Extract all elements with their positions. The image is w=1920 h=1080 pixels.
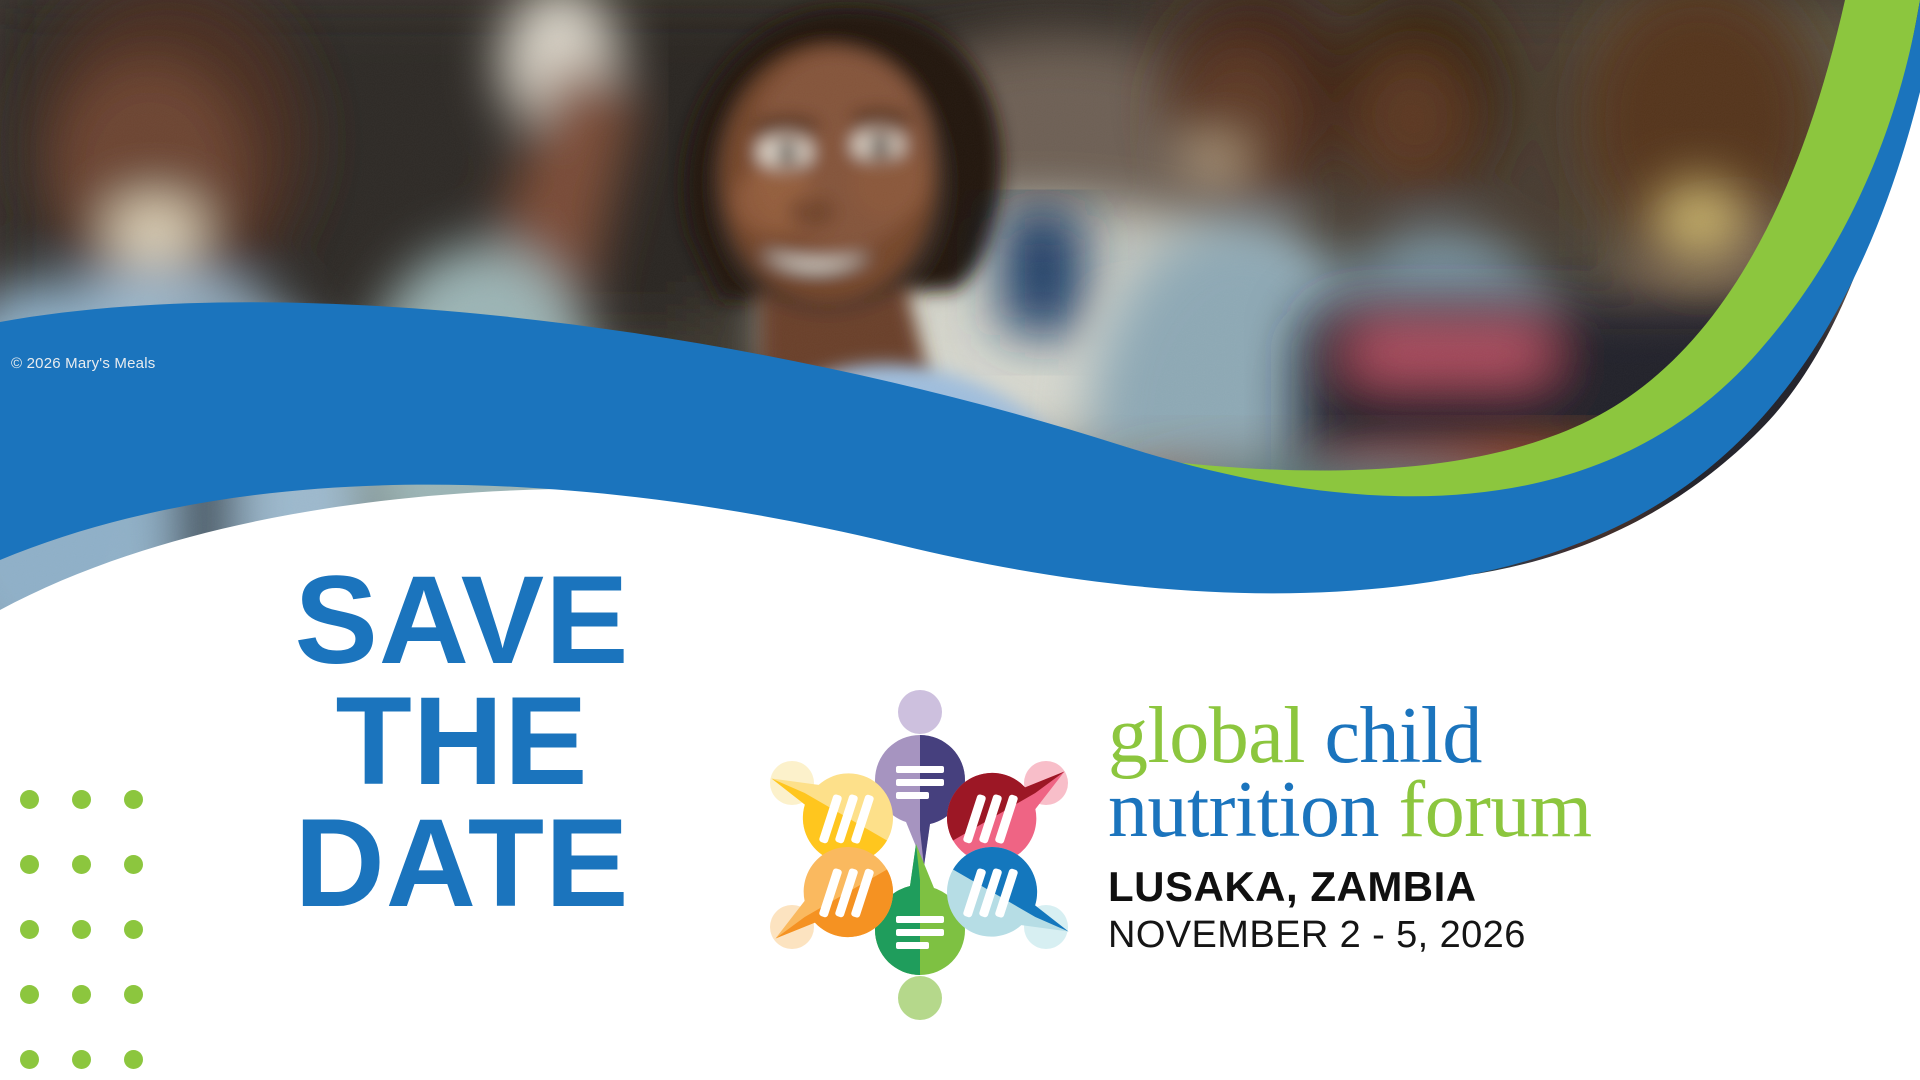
dot (72, 1050, 91, 1069)
dot (20, 790, 39, 809)
dot (124, 985, 143, 1004)
dot (124, 920, 143, 939)
dot (20, 985, 39, 1004)
gcnf-wordmark-block: global child nutrition forum LUSAKA, ZAM… (1108, 700, 1908, 957)
halo-dot-palegreen (898, 976, 942, 1020)
dot-grid-row (0, 1050, 176, 1080)
gcnf-logo-lockup: global child nutrition forum LUSAKA, ZAM… (760, 690, 1920, 1030)
headline: SAVE THE DATE (252, 560, 672, 924)
wordmark-forum: forum (1399, 766, 1592, 854)
headline-line-3: DATE (252, 803, 672, 924)
dot (20, 920, 39, 939)
dot-grid-row (0, 790, 176, 855)
dot-grid-row (0, 855, 176, 920)
halo-dot-lilac (898, 690, 942, 734)
wordmark-nutrition: nutrition (1108, 766, 1379, 854)
dot (72, 855, 91, 874)
gcnf-wordmark-line-1: global child (1108, 700, 1908, 774)
save-the-date-banner: © 2026 Mary's Meals SAVE THE DATE (0, 0, 1920, 1080)
dot (20, 1050, 39, 1069)
dot (20, 855, 39, 874)
dot (72, 920, 91, 939)
gcnf-speech-bubble-mark (760, 690, 1080, 1020)
dot (124, 1050, 143, 1069)
headline-line-1: SAVE (252, 560, 672, 681)
dot (124, 790, 143, 809)
dot (72, 790, 91, 809)
dot-grid-row (0, 920, 176, 985)
headline-line-2: THE (252, 681, 672, 802)
dot (124, 855, 143, 874)
gcnf-wordmark-line-2: nutrition forum (1108, 774, 1908, 848)
dot (72, 985, 91, 1004)
event-date: NOVEMBER 2 - 5, 2026 (1108, 914, 1908, 957)
dot-grid-row (0, 985, 176, 1050)
photo-credit: © 2026 Mary's Meals (11, 355, 155, 372)
event-location: LUSAKA, ZAMBIA (1108, 863, 1908, 911)
decorative-dot-grid (0, 790, 176, 1080)
